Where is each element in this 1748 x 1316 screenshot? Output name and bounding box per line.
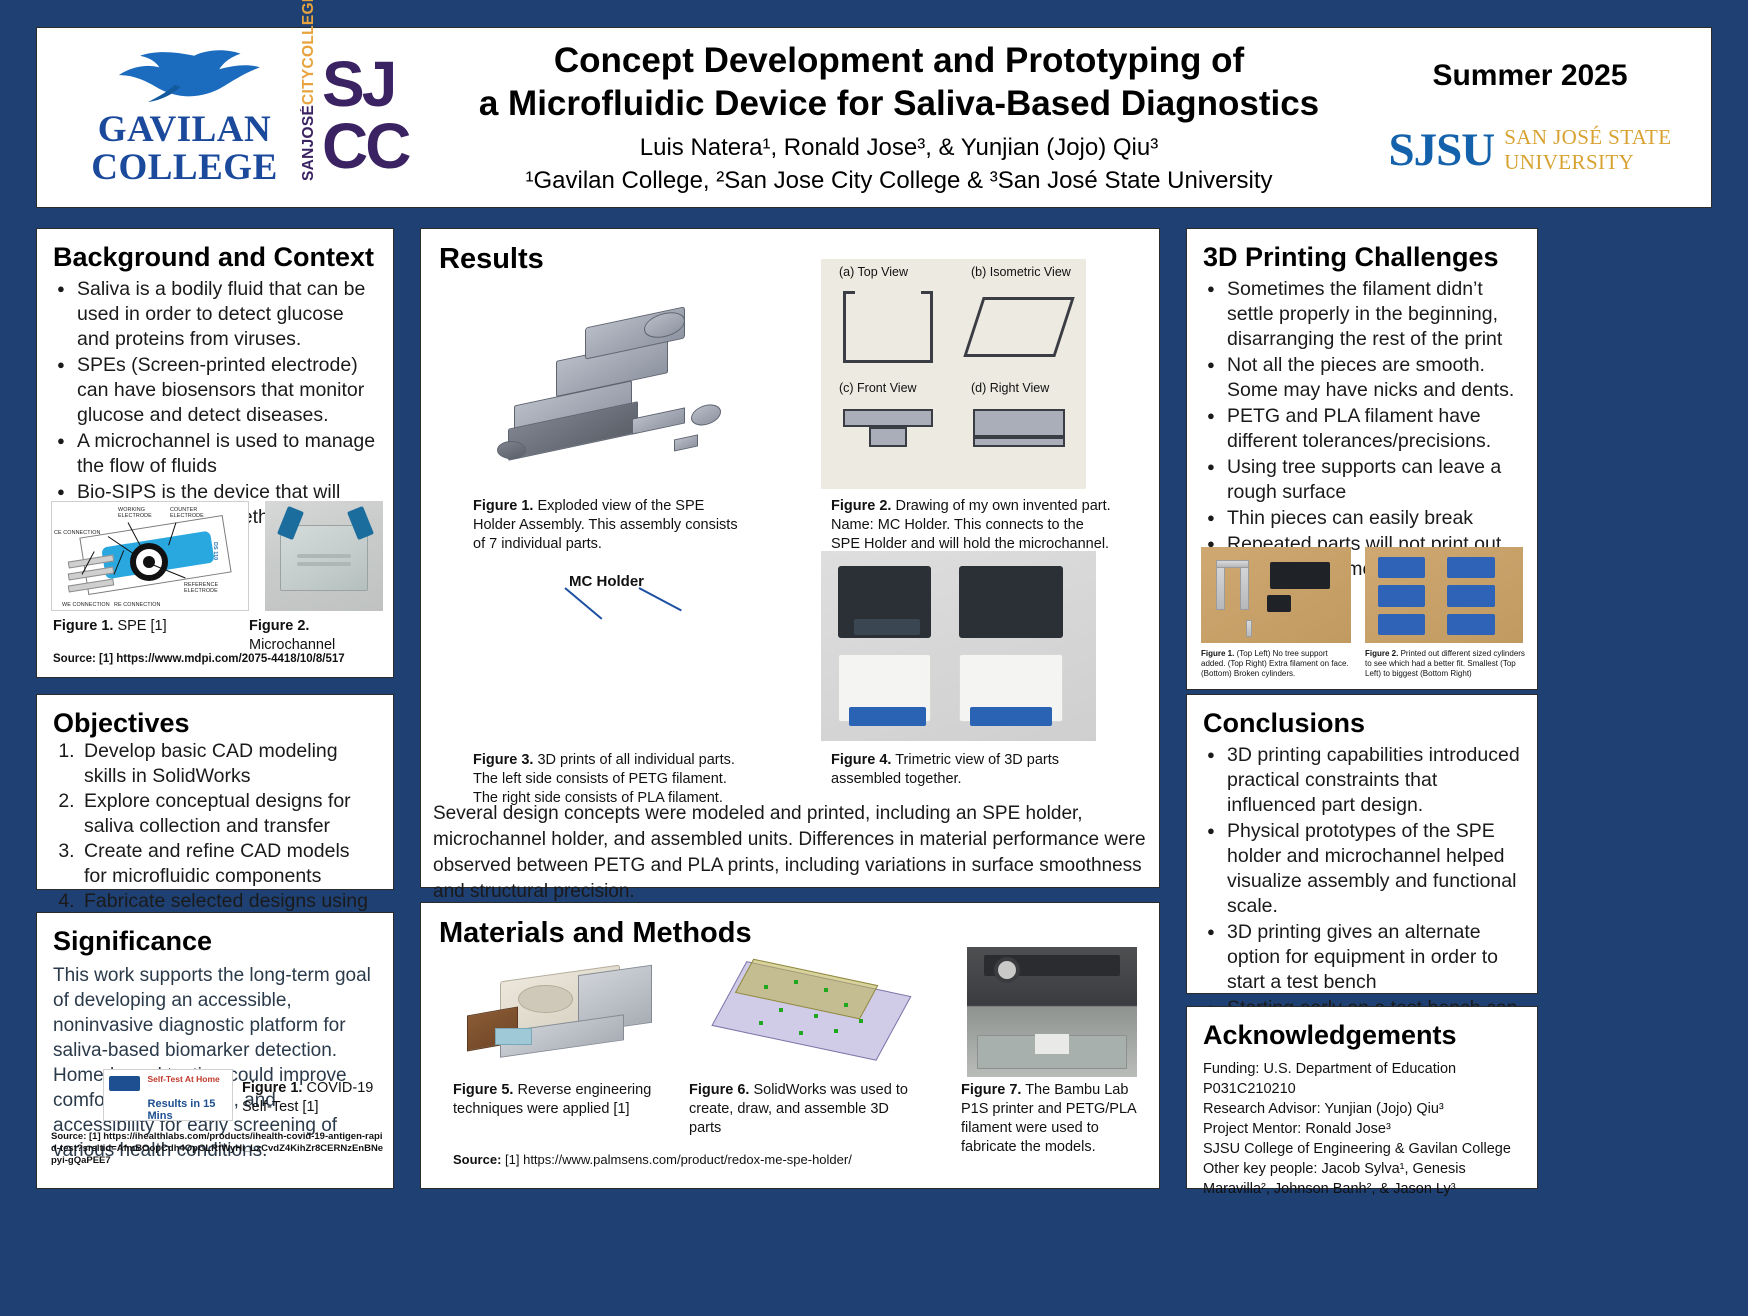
significance-figure-label: Figure 1. [242,1080,302,1096]
acknowledgements-line: SJSU College of Engineering & Gavilan Co… [1203,1139,1521,1159]
assembled-part-dark [959,566,1064,638]
drawing-top-view-cut [855,291,921,347]
holder-teal-strip [495,1028,532,1045]
poster-term: Summer 2025 [1375,59,1685,93]
results-figure2-caption: Figure 2. Drawing of my own invented par… [831,497,1116,554]
poster-authors: Luis Natera¹, Ronald Jose³, & Yunjian (J… [431,131,1367,164]
gavilan-name-line1: GAVILAN [77,111,292,149]
materials-figure5-image [449,951,679,1071]
mc-holder-arrow [639,587,682,611]
sjsu-monogram: SJSU [1388,123,1494,177]
challenges-title: 3D Printing Challenges [1203,242,1521,273]
panel-conclusions: Conclusions 3D printing capabilities int… [1186,694,1538,994]
cad-small-part [674,434,698,451]
sjcc-logo: SANJOSÉCITYCOLLEGE SJ CC [298,53,423,183]
solidworks-vertex [764,985,768,989]
objectives-item: Explore conceptual designs for saliva co… [80,789,377,839]
sjcc-vertical-gold: CITYCOLLEGE [300,0,318,104]
sjcc-monogram-sj: SJ [322,53,408,115]
sjsu-wordmark-line2: UNIVERSITY [1504,150,1671,175]
materials-figure5-caption: Figure 5. Reverse engineering techniques… [453,1081,663,1119]
spe-label-we: WE CONNECTION [62,602,110,608]
petg-filament-label: PETG Filament [535,699,642,716]
background-figure1-label: Figure 1. [53,618,113,634]
solidworks-vertex [824,988,828,992]
covid-blue-text: Results in 15 Mins [148,1098,232,1121]
conclusions-bullet: 3D printing capabilities introduced prac… [1203,743,1521,818]
cylinder-test-part [1447,614,1494,635]
results-figure2-label: Figure 2. [831,498,891,514]
support-bridge [1216,560,1249,568]
printed-part-pla [625,623,673,646]
acknowledgements-line: Research Advisor: Yunjian (Jojo) Qiu³ [1203,1099,1521,1119]
title-block: Concept Development and Prototyping of a… [423,39,1375,197]
materials-figure6-caption: Figure 6. SolidWorks was used to create,… [689,1081,919,1138]
background-title: Background and Context [53,242,377,273]
printed-object [1035,1034,1069,1054]
printed-part-petg [577,661,592,678]
acknowledgements-line: Funding: U.S. Department of Education P0… [1203,1059,1521,1099]
background-bullet: Saliva is a bodily fluid that can be use… [53,277,377,352]
challenges-bullet: Using tree supports can leave a rough su… [1203,455,1521,505]
sjcc-monogram-cc: CC [322,115,408,177]
panel-materials-and-methods: Materials and Methods Figure 5. Reverse … [420,902,1160,1189]
broken-part-black [1267,595,1291,612]
challenges-bullet: PETG and PLA filament have different tol… [1203,404,1521,454]
panel-3d-printing-challenges: 3D Printing Challenges Sometimes the fil… [1186,228,1538,690]
materials-title: Materials and Methods [439,917,1159,950]
poster-canvas: GAVILAN COLLEGE SANJOSÉCITYCOLLEGE SJ CC… [0,0,1748,1316]
mc-holder-arrow [564,587,602,619]
drawing-front-view-stem [869,427,907,447]
solidworks-vertex [799,1031,803,1035]
cylinder-test-part [1378,614,1425,635]
header-right-block: Summer 2025 SJSU SAN JOSÉ STATE UNIVERSI… [1375,59,1685,177]
results-figure1-image [473,289,768,489]
solidworks-vertex [844,1003,848,1007]
poster-title-line1: Concept Development and Prototyping of [431,39,1367,82]
cad-hole [497,441,527,459]
poster-affiliations: ¹Gavilan College, ²San Jose City College… [431,164,1367,197]
microchannel-photo [265,501,383,611]
broken-part-black [1270,562,1330,589]
drawing-right-view-top [973,409,1065,437]
results-figure4-image [821,551,1096,741]
view-label-c: (c) Front View [839,381,917,395]
spe-label-reference: REFERENCE ELECTRODE [184,582,224,594]
sjcc-vertical-text: SANJOSÉCITYCOLLEGE [300,55,320,181]
panel-acknowledgements: Acknowledgements Funding: U.S. Departmen… [1186,1006,1538,1189]
drawing-right-view-base [973,437,1065,447]
poster-title-line2: a Microfluidic Device for Saliva-Based D… [431,82,1367,125]
cylinder-test-part [1447,557,1494,578]
spe-diagram-figure: CE CONNECTION WORKING ELECTRODE COUNTER … [51,501,249,611]
background-figure1-caption: Figure 1. SPE [1] [53,617,233,636]
results-figure3-label: Figure 3. [473,752,533,768]
sjsu-wordmark-line1: SAN JOSÉ STATE [1504,125,1671,150]
acknowledgements-line: Project Mentor: Ronald Jose³ [1203,1119,1521,1139]
microchannel-channel [297,554,352,558]
conclusions-title: Conclusions [1203,708,1521,739]
assembled-part-blue [970,707,1053,726]
printed-part-pla-blue [625,661,685,688]
pla-filament-label: PLA Filament [637,692,732,709]
cylinder-test-part [1447,585,1494,606]
solidworks-vertex [779,1008,783,1012]
results-figure4-label: Figure 4. [831,752,891,768]
conclusions-bullet: 3D printing gives an alternate option fo… [1203,920,1521,995]
spe-label-ce: CE CONNECTION [54,530,101,536]
assembled-part-blue [849,707,926,726]
materials-figure7-image [967,947,1137,1077]
challenges-bullet: Not all the pieces are smooth. Some may … [1203,353,1521,403]
spe-chip-code: DS 110 [212,542,218,560]
background-figure1-text: SPE [1] [113,618,166,634]
view-label-a: (a) Top View [839,265,908,279]
challenges-figure1-caption: Figure 1. (Top Left) No tree support add… [1201,649,1353,679]
view-label-d: (d) Right View [971,381,1049,395]
printer-spool-icon [994,957,1020,983]
acknowledgements-list: Funding: U.S. Department of Education P0… [1203,1059,1521,1199]
gavilan-college-logo: GAVILAN COLLEGE [77,48,292,187]
sjsu-logo: SJSU SAN JOSÉ STATE UNIVERSITY [1375,123,1685,177]
challenges-figure2-caption: Figure 2. Printed out different sized cy… [1365,649,1527,679]
challenges-figure1-image [1201,547,1351,643]
results-figure3-caption: Figure 3. 3D prints of all individual pa… [473,751,741,808]
results-figure1-caption: Figure 1. Exploded view of the SPE Holde… [473,497,743,554]
challenges-bullet: Sometimes the filament didn’t settle pro… [1203,277,1521,352]
covid-red-text: Self-Test At Home [148,1074,220,1084]
challenges-figure2-image [1365,547,1523,643]
assembled-part-gray [854,619,920,634]
spe-label-working: WORKING ELECTRODE [118,507,154,519]
results-figure2-image: (a) Top View (b) Isometric View (c) Fron… [821,259,1086,489]
spe-label-counter: COUNTER ELECTRODE [170,507,206,519]
materials-figure6-image [689,947,939,1075]
solidworks-vertex [834,1029,838,1033]
significance-source: Source: [1] https://ihealthlabs.com/prod… [51,1131,387,1167]
significance-title: Significance [53,926,377,957]
solidworks-vertex [759,1021,763,1025]
objectives-list: Develop basic CAD modeling skills in Sol… [80,739,377,939]
drawing-front-view-top [843,409,933,427]
broken-cylinder [1246,620,1252,637]
materials-figure5-label: Figure 5. [453,1082,513,1098]
significance-figure-caption: Figure 1. COVID-19 Self-Test [1] [242,1079,387,1117]
background-bullet: SPEs (Screen-printed electrode) can have… [53,353,377,428]
objectives-title: Objectives [53,708,377,739]
cylinder-test-part [1378,557,1425,578]
materials-figure7-caption: Figure 7. The Bambu Lab P1S printer and … [961,1081,1151,1157]
challenges-bullet: Thin pieces can easily break [1203,506,1521,531]
printed-part-petg [571,623,601,650]
solidworks-vertex [859,1019,863,1023]
dove-icon [77,48,292,106]
objectives-item: Create and refine CAD models for microfl… [80,839,377,889]
sjcc-vertical-dark: SANJOSÉ [300,104,318,180]
materials-figure6-label: Figure 6. [689,1082,749,1098]
results-figure4-caption: Figure 4. Trimetric view of 3D parts ass… [831,751,1111,789]
background-figure2-label: Figure 2. [249,618,309,634]
covid-badge-icon [109,1076,140,1091]
results-figure1-label: Figure 1. [473,498,533,514]
objectives-item: Develop basic CAD modeling skills in Sol… [80,739,377,789]
materials-figure7-label: Figure 7. [961,1082,1021,1098]
materials-source: Source: [1] https://www.palmsens.com/pro… [453,1153,1093,1167]
spe-label-re: RE CONNECTION [114,602,161,608]
results-summary-text: Several design concepts were modeled and… [433,801,1149,905]
sjcc-monogram: SJ CC [322,53,408,177]
gavilan-name-line2: COLLEGE [77,149,292,187]
acknowledgements-line: Other key people: Jacob Sylva¹, Genesis … [1203,1159,1521,1199]
solidworks-vertex [794,980,798,984]
acknowledgements-title: Acknowledgements [1203,1020,1521,1051]
microchannel-channel [297,562,352,566]
mc-holder-annotation: MC Holder [569,573,644,590]
covid-self-test-figure: Self-Test At Home Results in 15 Mins [103,1069,233,1121]
conclusions-bullet: Physical prototypes of the SPE holder an… [1203,819,1521,919]
solidworks-vertex [814,1014,818,1018]
challenges-figure1-label: Figure 1. [1201,649,1234,658]
sjsu-wordmark: SAN JOSÉ STATE UNIVERSITY [1504,125,1671,175]
panel-results: Results Figure 1. Exploded view of the S… [420,228,1160,888]
cad-ring-part [691,402,721,428]
printed-part-pla-blue [703,650,739,669]
materials-source-text: [1] https://www.palmsens.com/product/red… [501,1152,851,1167]
background-figure2-caption: Figure 2. Microchannel [249,617,389,655]
challenges-figure2-label: Figure 2. [1365,649,1398,658]
cylinder-test-part [1378,585,1425,606]
panel-background-and-context: Background and Context Saliva is a bodil… [36,228,394,678]
challenges-bullet-list: Sometimes the filament didn’t settle pro… [1203,277,1521,582]
materials-source-label: Source: [453,1152,501,1167]
poster-header: GAVILAN COLLEGE SANJOSÉCITYCOLLEGE SJ CC… [36,27,1712,208]
background-figure2-text: Microchannel [249,637,335,653]
panel-objectives: Objectives Develop basic CAD modeling sk… [36,694,394,890]
printed-part-petg [487,623,547,646]
mc-holder-annotation-wrap: MC Holder [469,573,769,597]
cad-thin-strip [632,407,685,434]
background-bullet: A microchannel is used to manage the flo… [53,429,377,479]
printed-part-petg [493,661,559,691]
panel-significance: Significance This work supports the long… [36,912,394,1189]
background-source: Source: [1] https://www.mdpi.com/2075-44… [53,652,383,666]
view-label-b: (b) Isometric View [971,265,1071,279]
